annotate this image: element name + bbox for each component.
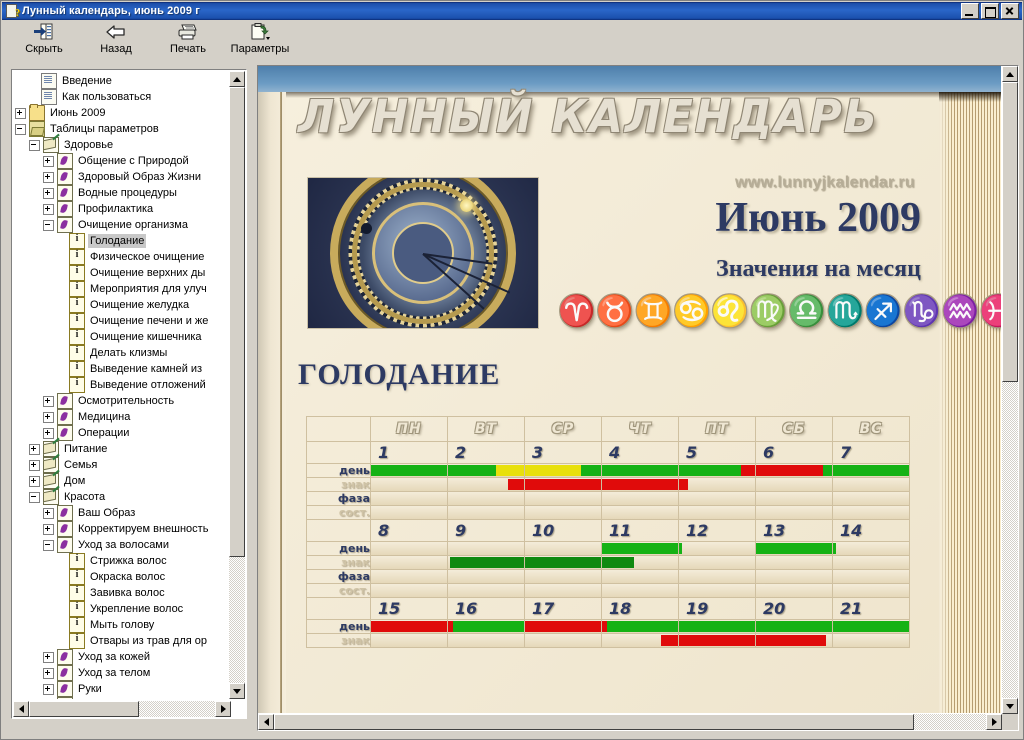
leaf-icon [57, 665, 73, 681]
calendar-day-cell[interactable]: 2 [448, 442, 525, 464]
metric-row-label: знак [307, 556, 371, 570]
doc-scroll-down-button[interactable] [1002, 698, 1018, 714]
weekday-header: СБ [756, 417, 833, 442]
collapse-icon[interactable] [29, 140, 40, 151]
metric-bar [833, 584, 909, 597]
expand-icon[interactable] [43, 508, 54, 519]
tree-item[interactable]: Июнь 2009 [15, 105, 231, 121]
calendar-day-cell[interactable]: 9 [448, 520, 525, 542]
metric-bar-segment [508, 479, 524, 490]
info-icon [69, 361, 85, 377]
metric-bar-segment [602, 557, 634, 568]
calendar-metric-row: день [307, 542, 910, 556]
tree-item[interactable]: Медицина [15, 409, 231, 425]
tree-item-label: Укрепление волос [88, 602, 185, 616]
calendar-day-cell[interactable]: 16 [448, 598, 525, 620]
tree-item[interactable]: Завивка волос [15, 585, 231, 601]
tree-item[interactable]: Очищение печени и же [15, 313, 231, 329]
info-icon [69, 249, 85, 265]
calendar-day-cell[interactable]: 6 [756, 442, 833, 464]
collapse-icon[interactable] [15, 124, 26, 135]
expand-icon[interactable] [29, 444, 40, 455]
tree-item[interactable]: Введение [15, 73, 231, 89]
metric-bar [756, 584, 832, 597]
calendar-day-cell[interactable]: 14 [833, 520, 910, 542]
calendar-bar-cell [833, 584, 910, 598]
tree-item[interactable]: Очищение желудка [15, 297, 231, 313]
calendar-day-cell[interactable]: 13 [756, 520, 833, 542]
metric-bar [679, 556, 755, 569]
close-button[interactable] [1001, 3, 1019, 19]
options-button[interactable]: Параметры [224, 20, 296, 58]
tree-item[interactable]: Окраска волос [15, 569, 231, 585]
day-number: 5 [686, 443, 697, 462]
options-icon [249, 22, 271, 42]
collapse-icon[interactable] [43, 220, 54, 231]
folder-icon [29, 105, 45, 121]
tree-scroll-up-button[interactable] [229, 71, 245, 87]
print-button[interactable]: Печать [152, 20, 224, 58]
metric-bar [833, 556, 909, 569]
metric-bar [833, 478, 909, 491]
tree-item[interactable]: Уход за волосами [15, 537, 231, 553]
calendar-day-number-row: 15161718192021 [307, 598, 910, 620]
tree-scroll-down-button[interactable] [229, 683, 245, 699]
tree-item[interactable]: Красота [15, 489, 231, 505]
metric-bar [833, 464, 909, 477]
metric-bar-segment [581, 465, 601, 476]
metric-bar [371, 478, 447, 491]
metric-bar [679, 492, 755, 505]
tree-item-label: Стрижка волос [88, 554, 169, 568]
metric-bar [756, 478, 832, 491]
day-number: 21 [840, 599, 862, 618]
metric-row-label: день [307, 464, 371, 478]
info-icon [69, 617, 85, 633]
tree-item-label: Очищение организма [76, 218, 190, 232]
expand-icon[interactable] [43, 204, 54, 215]
expand-icon[interactable] [43, 684, 54, 695]
tree-item-label: Уход за волосами [76, 538, 171, 552]
tree-item[interactable]: Стрижка волос [15, 553, 231, 569]
expand-icon[interactable] [15, 108, 26, 119]
tree-item[interactable]: Здоровье [15, 137, 231, 153]
metric-bar-segment [756, 465, 823, 476]
expand-icon[interactable] [43, 428, 54, 439]
metric-bar [756, 570, 832, 583]
metric-bar [756, 620, 832, 633]
metric-bar [602, 464, 678, 477]
doc-hscroll-track[interactable] [274, 714, 986, 730]
tree-item[interactable]: Операции [15, 425, 231, 441]
calendar-metric-row: сост. [307, 584, 910, 598]
expand-icon[interactable] [29, 476, 40, 487]
cat-icon [43, 489, 59, 505]
tree-item[interactable]: Уход за кожей [15, 649, 231, 665]
minimize-button[interactable] [961, 3, 979, 19]
leaf-icon [57, 201, 73, 217]
doc-icon [41, 89, 57, 105]
metric-bar [371, 634, 447, 647]
calendar-bar-cell [525, 620, 602, 634]
row-label-spacer [307, 520, 371, 542]
tree-item[interactable]: Очищение организма [15, 217, 231, 233]
tree-item[interactable]: Очищение кишечника [15, 329, 231, 345]
tree-item-label: Делать клизмы [88, 346, 169, 360]
hide-button[interactable]: Скрыть [8, 20, 80, 58]
tree-item-label: Июнь 2009 [48, 106, 108, 120]
doc-scroll-right-button[interactable] [986, 714, 1002, 730]
metric-bar [525, 556, 601, 569]
metric-bar [602, 634, 678, 647]
calendar-day-cell[interactable]: 11 [602, 520, 679, 542]
metric-bar [833, 620, 909, 633]
calendar-page: ЛУННЫЙ КАЛЕНДАРЬ www.lunn [258, 66, 1001, 713]
metric-row-label: день [307, 620, 371, 634]
tree-item-label: Питание [62, 442, 109, 456]
calendar-day-cell[interactable]: 3 [525, 442, 602, 464]
tree-scroll-left-button[interactable] [13, 701, 29, 717]
calendar-bar-cell [833, 506, 910, 520]
tree-hscroll-thumb[interactable] [29, 701, 139, 717]
metric-bar [756, 464, 832, 477]
weekday-header: ПТ [679, 417, 756, 442]
collapse-icon[interactable] [43, 540, 54, 551]
metric-bar-segment [679, 479, 688, 490]
day-number: 9 [455, 521, 466, 540]
document-horizontal-scrollbar[interactable] [258, 714, 1002, 730]
calendar-day-cell[interactable]: 8 [371, 520, 448, 542]
doc-scroll-up-button[interactable] [1002, 66, 1018, 82]
expand-icon[interactable] [43, 172, 54, 183]
tree-view: ВведениеКак пользоватьсяИюнь 2009Таблицы… [11, 69, 247, 719]
metric-bar [833, 506, 909, 519]
calendar-day-cell[interactable]: 12 [679, 520, 756, 542]
info-icon [69, 553, 85, 569]
tree-item-label: Очищение печени и же [88, 314, 210, 328]
day-number: 17 [532, 599, 554, 618]
tree-item-label: Мероприятия для улуч [88, 282, 209, 296]
metric-bar [525, 506, 601, 519]
calendar-metric-row: знак [307, 556, 910, 570]
tree-item[interactable]: Питание [15, 441, 231, 457]
window-controls [961, 3, 1020, 19]
tree-item[interactable]: Семья [15, 457, 231, 473]
metric-bar [679, 506, 755, 519]
document-vertical-scrollbar[interactable] [1002, 66, 1018, 714]
weekday-label: ЧТ [629, 421, 652, 437]
expand-icon[interactable] [43, 412, 54, 423]
weekday-label: ВС [860, 421, 883, 437]
calendar-metric-row: фаза [307, 492, 910, 506]
metric-bar-segment [602, 543, 678, 554]
metric-bar [371, 464, 447, 477]
back-button[interactable]: Назад [80, 20, 152, 58]
tree-item[interactable]: Руки [15, 681, 231, 697]
tree-item[interactable]: Здоровый Образ Жизни [15, 169, 231, 185]
calendar-day-cell[interactable]: 19 [679, 598, 756, 620]
info-icon [69, 345, 85, 361]
calendar-day-cell[interactable]: 5 [679, 442, 756, 464]
weekday-header: ПН [371, 417, 448, 442]
day-number: 16 [455, 599, 477, 618]
tree-vscroll-track[interactable] [229, 87, 245, 683]
metric-bar [371, 542, 447, 555]
tree-item-label: Медицина [76, 410, 132, 424]
tree-item[interactable]: Общение с Природой [15, 153, 231, 169]
metric-bar [756, 542, 832, 555]
metric-bar-segment [679, 465, 741, 476]
calendar-bar-cell [602, 556, 679, 570]
calendar-bar-cell [448, 478, 525, 492]
tree-item-label: Как пользоваться [60, 90, 153, 104]
document-frame: ЛУННЫЙ КАЛЕНДАРЬ www.lunn [257, 65, 1019, 731]
collapse-icon[interactable] [29, 492, 40, 503]
tree-item[interactable]: Укрепление волос [15, 601, 231, 617]
info-icon [69, 281, 85, 297]
masthead: ЛУННЫЙ КАЛЕНДАРЬ [298, 88, 898, 150]
tree-item-label: Красота [62, 490, 107, 504]
calendar-bar-cell [371, 464, 448, 478]
expand-icon[interactable] [43, 156, 54, 167]
tree-item[interactable]: Выведение камней из [15, 361, 231, 377]
tree-hscroll-track[interactable] [29, 701, 215, 717]
calendar-bar-cell [602, 478, 679, 492]
metric-bar [448, 556, 524, 569]
metric-bar [371, 556, 447, 569]
calendar-bar-cell [371, 570, 448, 584]
calendar-bar-cell [448, 570, 525, 584]
main-split: ВведениеКак пользоватьсяИюнь 2009Таблицы… [5, 61, 1019, 735]
tree-item-label: Мыть голову [88, 618, 156, 632]
tree-item[interactable]: Ноги [15, 697, 231, 699]
tree-item[interactable]: Корректируем внешность [15, 521, 231, 537]
calendar-bar-cell [371, 478, 448, 492]
metric-bar [679, 634, 755, 647]
calendar-bar-cell [371, 492, 448, 506]
expand-icon[interactable] [43, 652, 54, 663]
metric-bar [525, 492, 601, 505]
info-icon [69, 297, 85, 313]
tree-item-label: Ноги [76, 698, 104, 699]
month-title: Июнь 2009 [715, 194, 921, 242]
doc-vscroll-track[interactable] [1002, 82, 1018, 698]
tree-item[interactable]: Водные процедуры [15, 185, 231, 201]
calendar-day-cell[interactable]: 7 [833, 442, 910, 464]
tree-item[interactable]: Делать клизмы [15, 345, 231, 361]
day-number: 4 [609, 443, 620, 462]
metric-bar [833, 542, 909, 555]
metric-bar [602, 570, 678, 583]
expand-icon[interactable] [43, 396, 54, 407]
tree-scroll-right-button[interactable] [215, 701, 231, 717]
maximize-button[interactable] [981, 3, 999, 19]
metric-bar [448, 570, 524, 583]
calendar-bar-cell [602, 570, 679, 584]
metric-bar [525, 464, 601, 477]
calendar-bar-cell [602, 492, 679, 506]
metric-bar [525, 478, 601, 491]
metric-bar-segment [756, 635, 826, 646]
info-icon [69, 585, 85, 601]
tree-item[interactable]: Уход за телом [15, 665, 231, 681]
weekday-header: ЧТ [602, 417, 679, 442]
calendar-bar-cell [525, 542, 602, 556]
day-number: 19 [686, 599, 708, 618]
calendar-bar-cell [833, 478, 910, 492]
calendar-day-cell[interactable]: 4 [602, 442, 679, 464]
calendar-bar-cell [679, 542, 756, 556]
metric-row-label: сост. [307, 584, 371, 598]
calendar-bar-cell [525, 478, 602, 492]
metric-bar-segment [833, 543, 836, 554]
calendar-day-number-row: 891011121314 [307, 520, 910, 542]
tree-item[interactable]: Мыть голову [15, 617, 231, 633]
metric-bar [371, 570, 447, 583]
calendar-bar-cell [833, 542, 910, 556]
metric-bar-segment [602, 465, 678, 476]
calendar-bar-cell [833, 556, 910, 570]
calendar-day-cell[interactable]: 18 [602, 598, 679, 620]
metric-bar [679, 570, 755, 583]
leaf-icon [57, 521, 73, 537]
info-icon [69, 265, 85, 281]
calendar-bar-cell [371, 506, 448, 520]
calendar-day-cell[interactable]: 17 [525, 598, 602, 620]
metric-bar-segment [602, 479, 678, 490]
expand-icon[interactable] [29, 460, 40, 471]
metric-bar [602, 478, 678, 491]
expand-icon[interactable] [43, 668, 54, 679]
tree-item[interactable]: Профилактика [15, 201, 231, 217]
tree-item[interactable]: Отвары из трав для ор [15, 633, 231, 649]
expand-icon[interactable] [43, 188, 54, 199]
tree-item[interactable]: Выведение отложений [15, 377, 231, 393]
zodiac-symbols: ♈♉♊♋♌♍♎♏♐♑♒♓ [558, 294, 1001, 329]
calendar-bar-cell [371, 584, 448, 598]
calendar-day-cell[interactable]: 20 [756, 598, 833, 620]
metric-bar [679, 584, 755, 597]
calendar-bar-cell [756, 478, 833, 492]
scrollbar-corner [1002, 714, 1018, 730]
calendar-bar-cell [756, 464, 833, 478]
tree-item-label: Введение [60, 74, 114, 88]
calendar-bar-cell [602, 506, 679, 520]
doc-vscroll-thumb[interactable] [1002, 82, 1018, 382]
site-url: www.lunnyjkalendar.ru [735, 174, 915, 192]
tree-item-label: Уход за кожей [76, 650, 152, 664]
metric-bar [679, 620, 755, 633]
metric-bar [602, 620, 678, 633]
metric-row-label: сост. [307, 506, 371, 520]
metric-bar-segment [371, 621, 447, 632]
doc-scroll-left-button[interactable] [258, 714, 274, 730]
leaf-icon [57, 169, 73, 185]
folderopen-icon [29, 121, 45, 137]
tree-horizontal-scrollbar[interactable] [13, 701, 231, 717]
tree-item[interactable]: Ваш Образ [15, 505, 231, 521]
calendar-bar-cell [371, 542, 448, 556]
doc-hscroll-thumb[interactable] [274, 714, 914, 730]
weekday-header: ВС [833, 417, 910, 442]
calendar-bar-cell [756, 570, 833, 584]
calendar-bar-cell [679, 584, 756, 598]
metric-bar [833, 492, 909, 505]
calendar-metric-row: день [307, 620, 910, 634]
metric-bar [602, 584, 678, 597]
calendar-day-cell[interactable]: 15 [371, 598, 448, 620]
expand-icon[interactable] [43, 524, 54, 535]
leaf-icon [57, 409, 73, 425]
metric-bar-segment [607, 621, 678, 632]
calendar-metric-row: сост. [307, 506, 910, 520]
day-number: 1 [378, 443, 389, 462]
masthead-title: ЛУННЫЙ КАЛЕНДАРЬ [298, 88, 880, 146]
day-number: 11 [609, 521, 631, 540]
weekday-label: СР [552, 421, 575, 437]
leaf-icon [57, 505, 73, 521]
day-number: 14 [840, 521, 862, 540]
metric-bar [833, 634, 909, 647]
metric-row-label: знак [307, 478, 371, 492]
calendar-day-cell[interactable]: 21 [833, 598, 910, 620]
weekday-header: ВТ [448, 417, 525, 442]
hide-pane-icon [34, 22, 54, 42]
calendar-header-row: ПНВТСРЧТПТСБВС [307, 417, 910, 442]
metric-bar-segment [525, 465, 581, 476]
metric-bar-segment [833, 621, 909, 632]
tree-item-label: Операции [76, 426, 131, 440]
day-number: 20 [763, 599, 785, 618]
metric-bar-segment [450, 557, 524, 568]
tree-item[interactable]: Голодание [15, 233, 231, 249]
day-number: 3 [532, 443, 543, 462]
tree-item-label: Завивка волос [88, 586, 167, 600]
tree-item[interactable]: Как пользоваться [15, 89, 231, 105]
tree-vertical-scrollbar[interactable] [229, 71, 245, 699]
tree-item[interactable]: Дом [15, 473, 231, 489]
calendar-day-cell[interactable]: 1 [371, 442, 448, 464]
tree-vscroll-thumb[interactable] [229, 87, 245, 557]
metric-bar-segment [679, 543, 682, 554]
tree-item[interactable]: Физическое очищение [15, 249, 231, 265]
calendar-day-cell[interactable]: 10 [525, 520, 602, 542]
day-number: 10 [532, 521, 554, 540]
day-number: 8 [378, 521, 389, 540]
calendar-bar-cell [602, 464, 679, 478]
leaf-icon [57, 153, 73, 169]
info-icon [69, 633, 85, 649]
day-number: 18 [609, 599, 631, 618]
leaf-icon [57, 649, 73, 665]
tree-item[interactable]: Очищение верхних ды [15, 265, 231, 281]
calendar-bar-cell [525, 492, 602, 506]
book-left-margin [258, 92, 286, 713]
tree-item[interactable]: Таблицы параметров [15, 121, 231, 137]
content-pane: ЛУННЫЙ КАЛЕНДАРЬ www.lunn [253, 61, 1019, 735]
tree-item-label: Физическое очищение [88, 250, 206, 264]
metric-bar [371, 584, 447, 597]
tree-item[interactable]: Осмотрительность [15, 393, 231, 409]
weekday-label: СБ [783, 421, 806, 437]
calendar-bar-cell [756, 542, 833, 556]
navigation-pane: ВведениеКак пользоватьсяИюнь 2009Таблицы… [5, 61, 253, 735]
section-title: ГОЛОДАНИЕ [298, 358, 500, 392]
info-icon [69, 569, 85, 585]
metric-bar [448, 464, 524, 477]
options-button-label: Параметры [231, 43, 290, 55]
tree-item[interactable]: Мероприятия для улуч [15, 281, 231, 297]
